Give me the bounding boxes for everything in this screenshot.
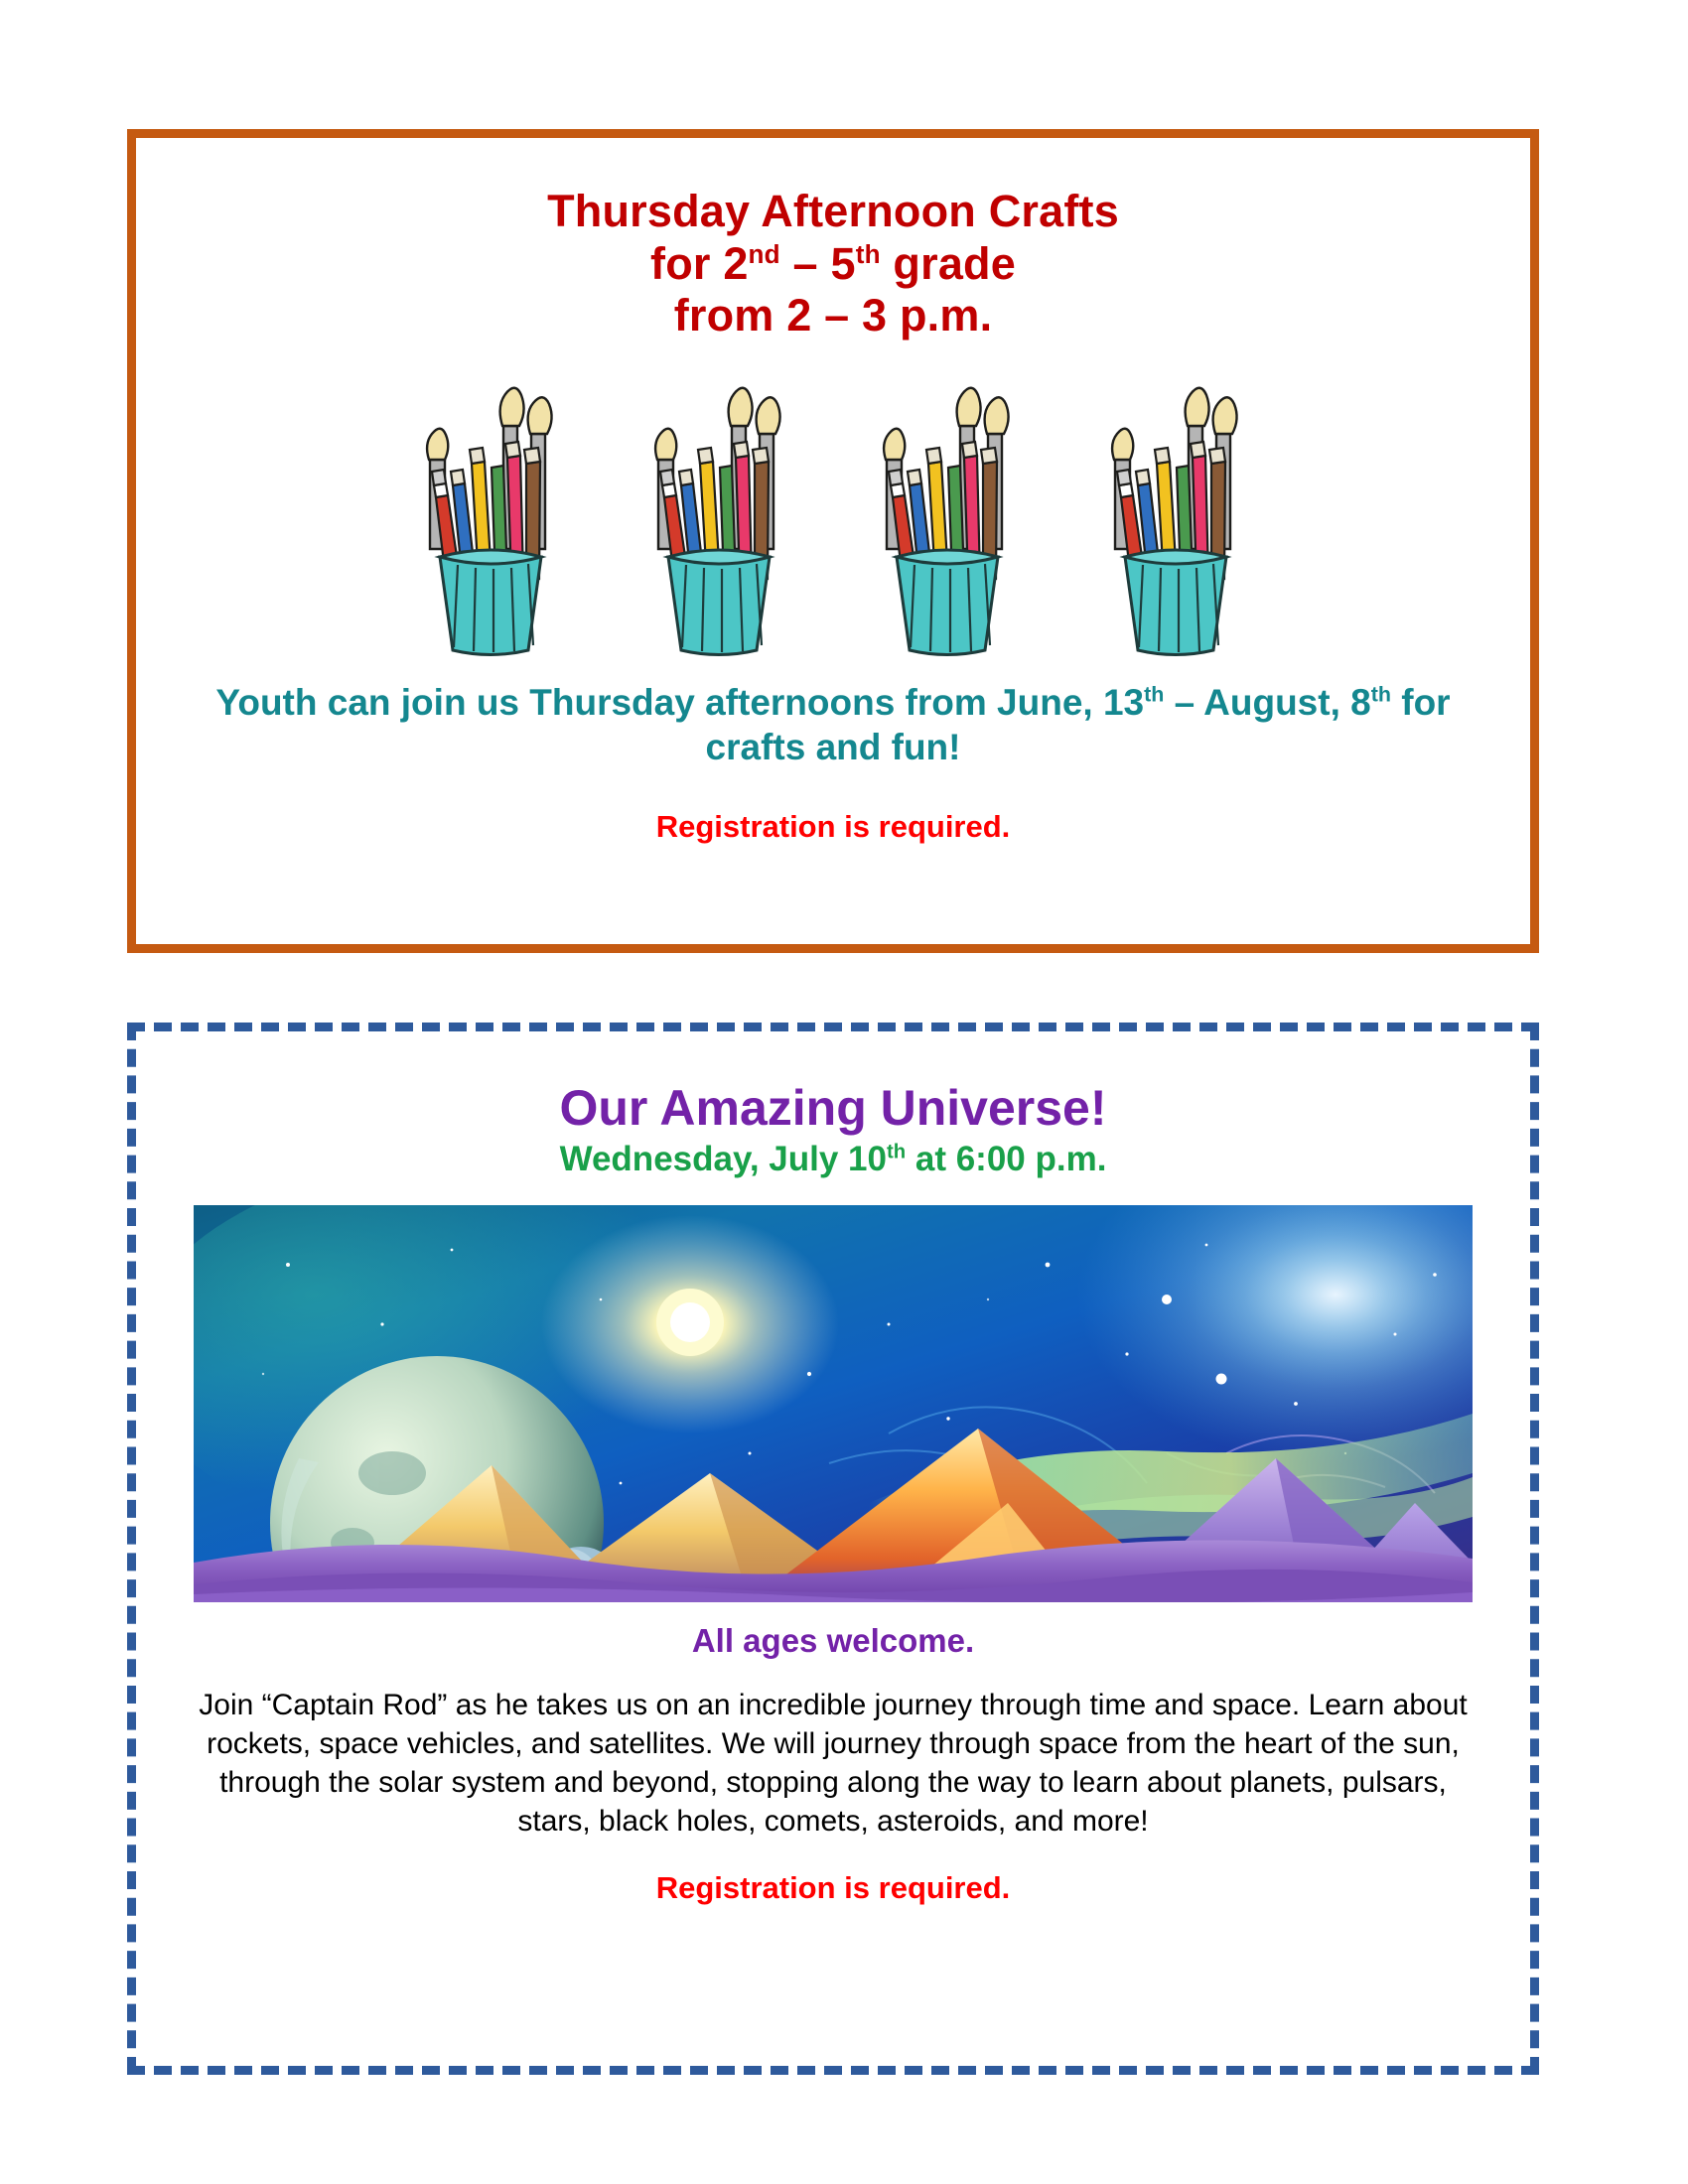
pencil-cups-illustration (136, 364, 1530, 662)
flyer-page: Thursday Afternoon Crafts for 2nd – 5th … (0, 0, 1688, 2184)
crafts-registration-notice: Registration is required. (136, 809, 1530, 845)
universe-title: Our Amazing Universe! (136, 1031, 1530, 1135)
universe-all-ages-note: All ages welcome. (136, 1622, 1530, 1660)
universe-description: Join “Captain Rod” as he takes us on an … (188, 1686, 1478, 1841)
universe-date-sup: th (887, 1141, 906, 1162)
crafts-desc-sup-june: th (1144, 683, 1164, 707)
crafts-grade-mid: – 5 (780, 238, 856, 289)
crafts-heading: Thursday Afternoon Crafts for 2nd – 5th … (136, 138, 1530, 342)
crafts-desc-sup-august: th (1371, 683, 1391, 707)
pencil-cup-icon (853, 368, 1042, 662)
space-scene-image (194, 1205, 1473, 1602)
crafts-grade-sup-th: th (856, 239, 881, 269)
crafts-grade-pre: for 2 (650, 238, 749, 289)
pencil-cup-icon (625, 368, 813, 662)
universe-date-post: at 6:00 p.m. (906, 1140, 1106, 1178)
crafts-heading-line-2: for 2nd – 5th grade (136, 238, 1530, 291)
universe-date: Wednesday, July 10th at 6:00 p.m. (136, 1141, 1530, 1179)
crafts-heading-line-1: Thursday Afternoon Crafts (136, 186, 1530, 238)
crafts-description: Youth can join us Thursday afternoons fr… (136, 680, 1530, 769)
universe-flyer-card: Our Amazing Universe! Wednesday, July 10… (127, 1023, 1539, 2075)
pencil-cup-icon (1081, 368, 1270, 662)
crafts-desc-pre: Youth can join us Thursday afternoons fr… (215, 682, 1144, 723)
crafts-grade-sup-nd: nd (749, 239, 780, 269)
universe-date-pre: Wednesday, July 10 (560, 1140, 887, 1178)
universe-registration-notice: Registration is required. (136, 1870, 1530, 1906)
crafts-flyer-card: Thursday Afternoon Crafts for 2nd – 5th … (127, 129, 1539, 953)
crafts-heading-line-3: from 2 – 3 p.m. (136, 290, 1530, 342)
pencil-cup-icon (396, 368, 585, 662)
crafts-grade-post: grade (881, 238, 1016, 289)
crafts-desc-mid: – August, 8 (1164, 682, 1370, 723)
